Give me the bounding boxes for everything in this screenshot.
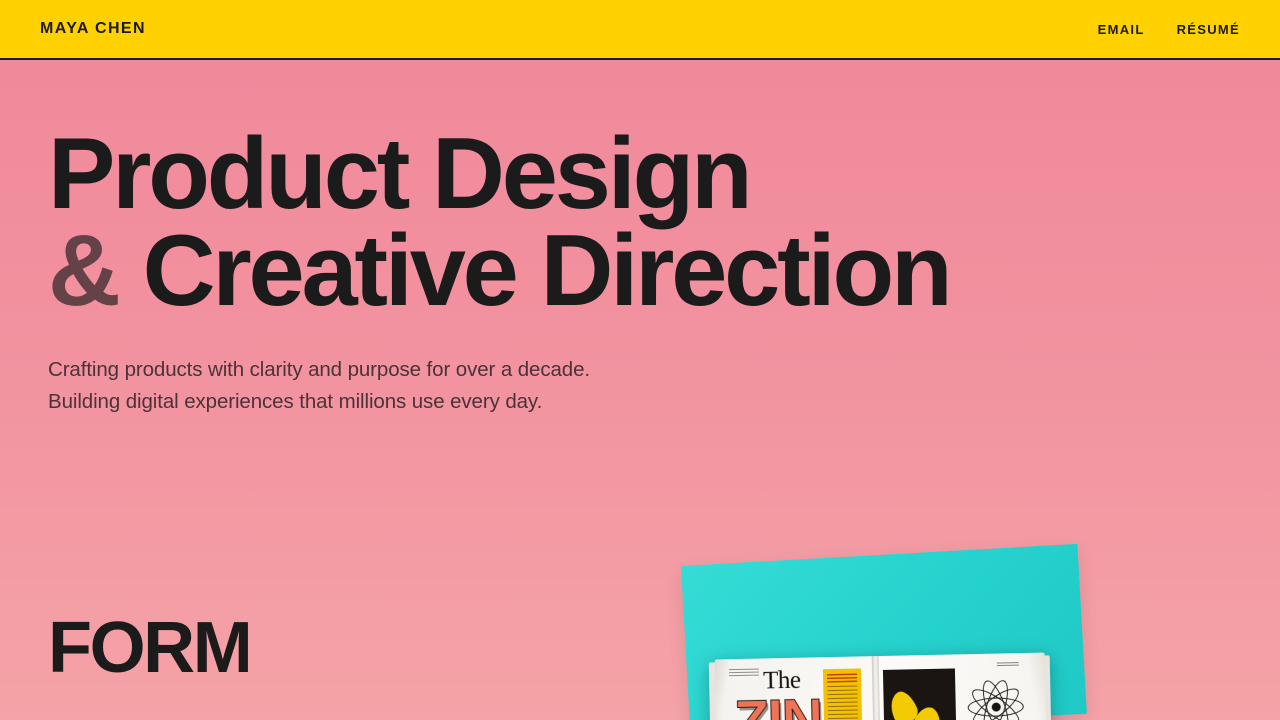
page-root: MAYA CHEN EMAIL RÉSUMÉ Product Design & …: [0, 0, 1280, 720]
open-magazine-photo: The ZIN: [681, 566, 1078, 720]
brand-logo[interactable]: MAYA CHEN: [40, 20, 146, 38]
magazine-sidebar-heading-lines: [827, 673, 857, 683]
nav-link-resume[interactable]: RÉSUMÉ: [1177, 22, 1240, 37]
headline-line-2: & Creative Direction: [48, 223, 949, 320]
magazine-yellow-sidebar: [823, 668, 863, 720]
headline-line-1: Product Design: [48, 118, 750, 230]
section-heading-form: FORM: [48, 612, 250, 684]
magazine-sidebar-body-lines: [827, 685, 859, 720]
subtitle-line-1: Crafting products with clarity and purpo…: [48, 354, 590, 386]
open-magazine: The ZIN: [715, 653, 1048, 720]
magazine-title-zin: ZIN: [733, 691, 822, 720]
atom-line-drawing: [965, 677, 1026, 720]
primary-nav: EMAIL RÉSUMÉ: [1098, 22, 1240, 37]
magazine-folio-text: [997, 662, 1019, 667]
nav-link-email[interactable]: EMAIL: [1098, 22, 1145, 37]
site-header: MAYA CHEN EMAIL RÉSUMÉ: [0, 0, 1280, 60]
page-title: Product Design & Creative Direction: [48, 126, 949, 320]
headline-line-2-text: Creative Direction: [143, 215, 950, 327]
headline-ampersand: &: [48, 215, 118, 327]
hero-subtitle: Crafting products with clarity and purpo…: [48, 354, 590, 418]
magazine-kicker-text: [729, 669, 759, 677]
subtitle-line-2: Building digital experiences that millio…: [48, 386, 590, 418]
magazine-black-panel: [883, 668, 957, 720]
